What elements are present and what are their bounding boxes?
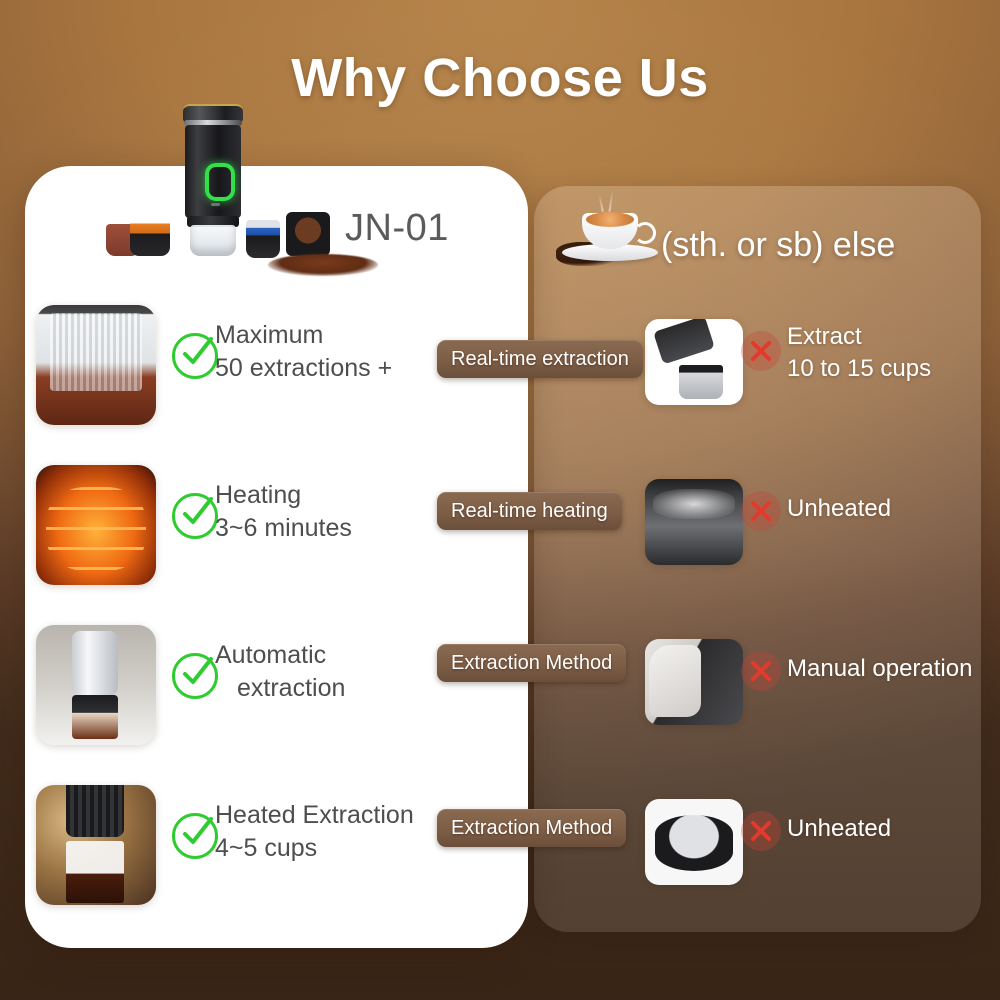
machine-led-icon bbox=[211, 203, 220, 206]
competitor-line-1: Unheated bbox=[787, 495, 891, 522]
cup-handle-icon bbox=[634, 222, 656, 244]
feature-line-2: 3~6 minutes bbox=[215, 512, 445, 545]
competitor-line-1: Manual operation bbox=[787, 655, 972, 682]
comparison-badge: Extraction Method bbox=[437, 809, 626, 847]
product-feature-text: Heated Extraction 4~5 cups bbox=[215, 799, 475, 865]
coffee-capsule-blue-icon bbox=[246, 220, 280, 258]
check-icon bbox=[172, 333, 218, 379]
product-thumbnail bbox=[36, 305, 156, 425]
feature-line-2: 50 extractions + bbox=[215, 352, 445, 385]
product-thumbnail bbox=[36, 465, 156, 585]
comparison-badge: Real-time extraction bbox=[437, 340, 643, 378]
competitor-thumbnail bbox=[645, 479, 743, 565]
cross-icon bbox=[741, 651, 781, 691]
competitor-thumbnail bbox=[645, 799, 743, 885]
machine-body bbox=[185, 125, 241, 218]
coffee-capsule-orange-icon bbox=[130, 214, 170, 256]
product-thumbnail bbox=[36, 625, 156, 745]
competitor-line-1: Unheated bbox=[787, 815, 891, 842]
cross-icon bbox=[741, 811, 781, 851]
competitor-feature-text: Unheated bbox=[787, 493, 1000, 525]
comparison-badge: Real-time heating bbox=[437, 492, 622, 530]
feature-line-1: Heated Extraction bbox=[215, 801, 414, 829]
feature-line-1: Automatic bbox=[215, 641, 326, 669]
competitor-header: (sth. or sb) else bbox=[661, 226, 895, 265]
check-icon bbox=[172, 653, 218, 699]
cross-icon bbox=[741, 491, 781, 531]
infographic-root: Why Choose Us JN-01 (sth. or sb) bbox=[0, 0, 1000, 1000]
competitor-feature-text: Manual operation bbox=[787, 653, 1000, 685]
comparison-badge: Extraction Method bbox=[437, 644, 626, 682]
check-icon bbox=[172, 493, 218, 539]
feature-line-1: Heating bbox=[215, 481, 301, 509]
coffee-capsule-open-icon bbox=[286, 212, 330, 256]
competitor-line-1: Extract bbox=[787, 323, 862, 350]
espresso-machine-icon bbox=[182, 104, 244, 254]
feature-line-1: Maximum bbox=[215, 321, 323, 349]
machine-display-icon bbox=[205, 163, 235, 201]
competitor-hero-image bbox=[556, 200, 666, 268]
competitor-thumbnail bbox=[645, 319, 743, 405]
machine-cup bbox=[190, 225, 236, 256]
comparison-row: Automatic extraction Manual operation bbox=[0, 625, 1000, 745]
page-title: Why Choose Us bbox=[0, 47, 1000, 109]
cross-icon bbox=[741, 331, 781, 371]
competitor-thumbnail bbox=[645, 639, 743, 725]
coffee-grounds-icon bbox=[268, 254, 378, 276]
check-icon bbox=[172, 813, 218, 859]
product-feature-text: Maximum 50 extractions + bbox=[215, 319, 445, 385]
product-model-label: JN-01 bbox=[345, 207, 449, 250]
latte-art-icon bbox=[586, 212, 634, 227]
feature-line-2: 4~5 cups bbox=[215, 832, 475, 865]
product-hero-image bbox=[100, 104, 400, 279]
product-feature-text: Automatic extraction bbox=[215, 639, 445, 705]
feature-line-2: extraction bbox=[215, 672, 445, 705]
competitor-line-2: 10 to 15 cups bbox=[787, 353, 1000, 385]
competitor-feature-text: Unheated bbox=[787, 813, 1000, 845]
competitor-feature-text: Extract 10 to 15 cups bbox=[787, 321, 1000, 385]
product-thumbnail bbox=[36, 785, 156, 905]
product-feature-text: Heating 3~6 minutes bbox=[215, 479, 445, 545]
